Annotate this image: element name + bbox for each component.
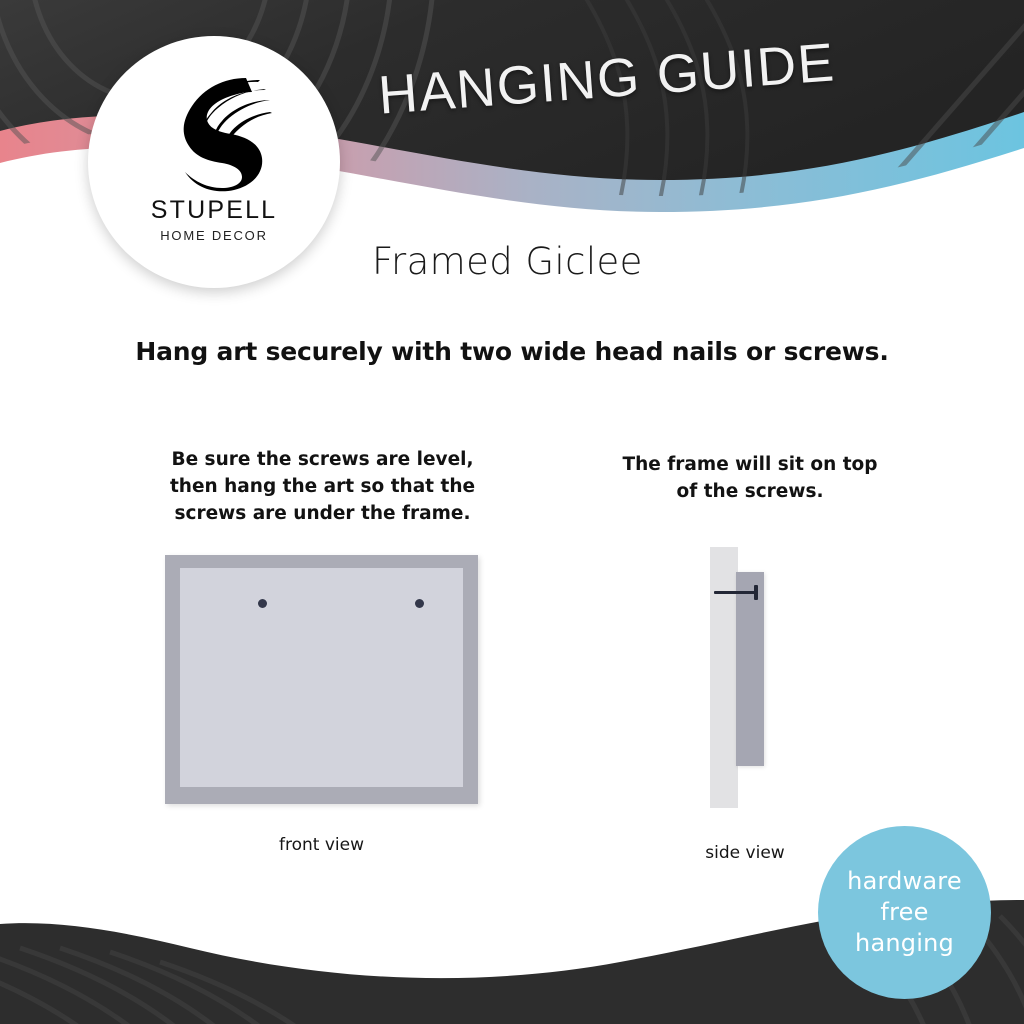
front-caption-line-1: Be sure the screws are level, bbox=[150, 447, 495, 474]
side-caption-line-2: of the screws. bbox=[590, 479, 910, 506]
product-type-label: Framed Giclee bbox=[372, 240, 643, 283]
screw-head-icon bbox=[754, 585, 758, 600]
brand-logo-badge: STUPELL HOME DECOR bbox=[88, 36, 340, 288]
front-view-caption: Be sure the screws are level, then hang … bbox=[150, 447, 495, 527]
front-view-label: front view bbox=[165, 835, 478, 855]
stupell-swoosh-logo-icon bbox=[154, 62, 274, 192]
page-title: HANGING GUIDE bbox=[376, 31, 837, 126]
frame-profile bbox=[736, 572, 764, 766]
badge-line-2: free bbox=[847, 897, 962, 928]
screw-dot-right bbox=[415, 599, 424, 608]
hardware-badge-text: hardware free hanging bbox=[847, 866, 962, 960]
side-view-diagram bbox=[710, 547, 782, 809]
picture-frame-border bbox=[165, 555, 478, 804]
side-caption-line-1: The frame will sit on top bbox=[590, 452, 910, 479]
hanging-guide-page: STUPELL HOME DECOR HANGING GUIDE Framed … bbox=[0, 0, 1024, 1024]
badge-line-1: hardware bbox=[847, 866, 962, 897]
front-caption-line-3: screws are under the frame. bbox=[150, 501, 495, 528]
side-view-label: side view bbox=[655, 843, 835, 863]
brand-name: STUPELL bbox=[151, 196, 278, 225]
front-caption-line-2: then hang the art so that the bbox=[150, 474, 495, 501]
main-instruction-text: Hang art securely with two wide head nai… bbox=[0, 337, 1024, 366]
side-view-caption: The frame will sit on top of the screws. bbox=[590, 452, 910, 506]
screw-dot-left bbox=[258, 599, 267, 608]
badge-line-3: hanging bbox=[847, 928, 962, 959]
picture-frame-mat bbox=[180, 568, 463, 787]
front-view-diagram bbox=[165, 555, 478, 804]
wall-surface bbox=[710, 547, 738, 808]
hardware-free-hanging-badge: hardware free hanging bbox=[818, 826, 991, 999]
screw-shaft-icon bbox=[714, 591, 758, 594]
brand-tagline: HOME DECOR bbox=[160, 228, 268, 243]
